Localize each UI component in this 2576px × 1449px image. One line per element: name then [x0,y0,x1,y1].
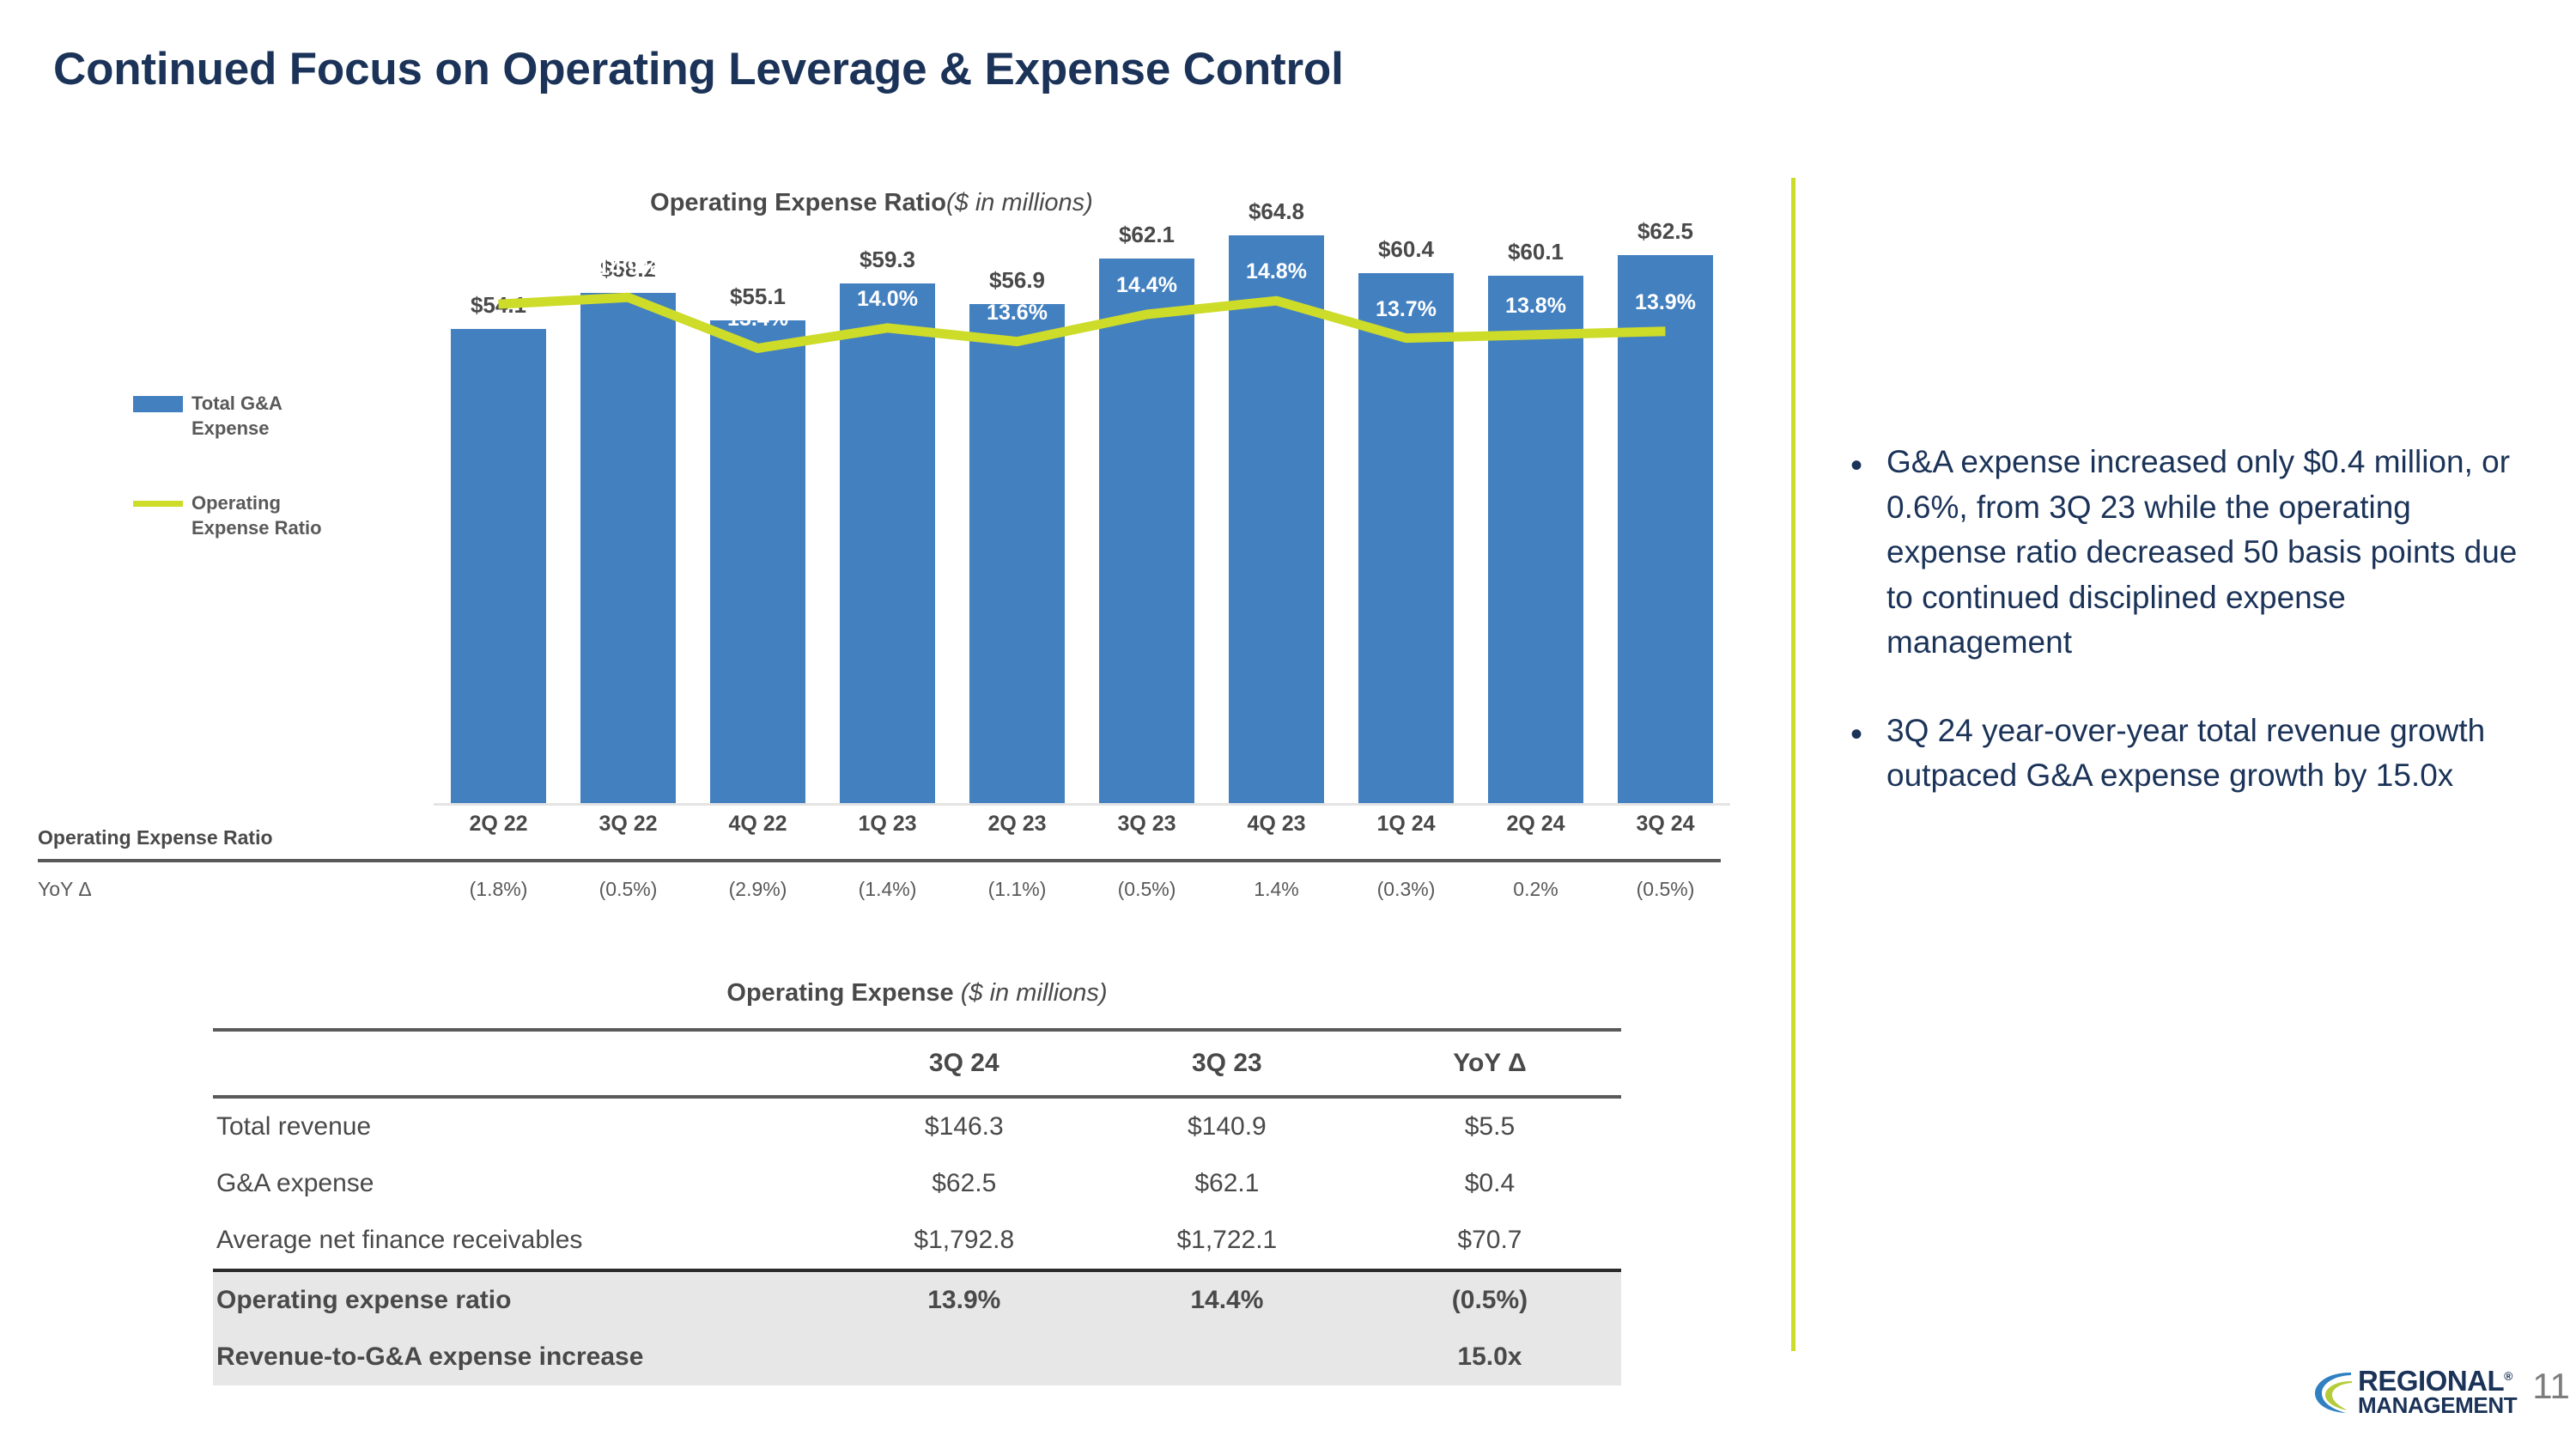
yoy-delta-cell: 0.2% [1471,878,1601,901]
bullet-item: •3Q 24 year-over-year total revenue grow… [1850,709,2529,799]
table-body: Total revenue$146.3$140.9$5.5G&A expense… [213,1097,1621,1385]
yoy-delta-cell: (0.5%) [563,878,693,901]
bar [580,293,676,803]
bar-value-label: $62.1 [1082,222,1212,248]
table-cell-value: $146.3 [833,1097,1096,1155]
x-axis-tick-label: 4Q 22 [693,812,823,837]
table-cell-value: $0.4 [1358,1155,1621,1212]
bullet-text: 3Q 24 year-over-year total revenue growt… [1886,709,2529,799]
ratio-value-label: 13.9% [1601,290,1730,315]
logo-line-1: REGIONAL® [2358,1367,2517,1395]
table-title-main: Operating Expense [726,979,953,1007]
table-cell-value: $70.7 [1358,1212,1621,1270]
yoy-delta-cell: (0.3%) [1341,878,1471,901]
ratio-value-label: 14.8% [1212,259,1341,284]
yoy-delta-cell: (0.5%) [1601,878,1730,901]
bar-value-label: $59.3 [823,247,952,273]
column-header-label [213,1030,833,1097]
ratio-value-label: 14.9% [563,256,693,281]
bar-column: $58.214.9% [563,172,693,803]
ratio-value-label: 13.7% [1341,297,1471,322]
x-axis-tick-label: 3Q 23 [1082,812,1212,837]
column-header-yoy: YoY Δ [1358,1030,1621,1097]
vertical-divider [1791,178,1795,1351]
x-axis-tick-label: 2Q 22 [434,812,563,837]
bar [969,304,1065,803]
x-axis-tick-label: 1Q 23 [823,812,952,837]
operating-expense-ratio-divider [38,859,1721,862]
column-header-3q23: 3Q 23 [1096,1030,1358,1097]
table-row: Operating expense ratio13.9%14.4%(0.5%) [213,1270,1621,1329]
table-cell-label: Total revenue [213,1097,833,1155]
logo-line-2: MANAGEMENT [2358,1395,2517,1416]
x-axis-tick-label: 1Q 24 [1341,812,1471,837]
chart-legend: Total G&A Expense Operating Expense Rati… [133,391,416,590]
legend-item-label: Operating Expense Ratio [191,490,346,540]
bar-column: $54.114.7% [434,172,563,803]
legend-item-operating-expense-ratio: Operating Expense Ratio [133,490,416,540]
bar [1099,259,1194,803]
x-axis-tick-label: 3Q 22 [563,812,693,837]
bar [840,283,935,803]
ratio-value-label: 14.4% [1082,273,1212,298]
column-header-3q24: 3Q 24 [833,1030,1096,1097]
table-header-row: 3Q 24 3Q 23 YoY Δ [213,1030,1621,1097]
ratio-value-label: 13.4% [693,307,823,332]
bar-column: $60.113.8% [1471,172,1601,803]
bar-column: $62.513.9% [1601,172,1730,803]
bar [1358,273,1454,803]
chart-bars-container: $54.114.7%$58.214.9%$55.113.4%$59.314.0%… [434,172,1730,803]
registered-trademark-icon: ® [2504,1369,2512,1383]
footer: REGIONAL® MANAGEMENT 11 [2312,1367,2570,1416]
bar-column: $55.113.4% [693,172,823,803]
operating-expense-ratio-chart: Operating Expense Ratio($ in millions) T… [0,172,1769,859]
commentary-bullet-list: •G&A expense increased only $0.4 million… [1850,440,2529,842]
yoy-delta-cell: (1.1%) [952,878,1082,901]
yoy-delta-cell: (2.9%) [693,878,823,901]
bar [710,320,805,803]
x-axis-tick-label: 2Q 23 [952,812,1082,837]
bar-value-label: $62.5 [1601,218,1730,245]
legend-item-label: Total G&A Expense [191,391,346,441]
table-cell-label: Revenue-to-G&A expense increase [213,1329,833,1385]
table-cell-value: 14.4% [1096,1270,1358,1329]
yoy-delta-cell: (1.8%) [434,878,563,901]
table-cell-value [833,1329,1096,1385]
bullet-dot-icon: • [1850,717,1862,752]
bar-column: $60.413.7% [1341,172,1471,803]
operating-expense-ratio-row-label: Operating Expense Ratio [38,826,273,849]
table-header: 3Q 24 3Q 23 YoY Δ [213,1030,1621,1097]
bullet-dot-icon: • [1850,448,1862,483]
table-cell-value [1096,1329,1358,1385]
bar-value-label: $60.4 [1341,236,1471,263]
legend-line-swatch-icon [133,501,183,507]
table-row: G&A expense$62.5$62.1$0.4 [213,1155,1621,1212]
page-title: Continued Focus on Operating Leverage & … [53,43,1344,95]
x-axis-tick-label: 4Q 23 [1212,812,1341,837]
table-cell-value: $140.9 [1096,1097,1358,1155]
regional-management-swoosh-icon [2312,1367,2356,1416]
bar-value-label: $64.8 [1212,198,1341,225]
bar-column: $56.913.6% [952,172,1082,803]
x-axis-line [434,803,1730,806]
table-cell-value: 15.0x [1358,1329,1621,1385]
table-cell-label: Operating expense ratio [213,1270,833,1329]
page-number: 11 [2532,1366,2570,1407]
bar [1488,276,1583,803]
bar-column: $62.114.4% [1082,172,1212,803]
chart-plot-area: $54.114.7%$58.214.9%$55.113.4%$59.314.0%… [434,172,1730,979]
ratio-value-label: 14.7% [434,263,563,288]
table-cell-value: $1,792.8 [833,1212,1096,1270]
table-title-subtitle: ($ in millions) [961,979,1108,1007]
yoy-delta-cell: 1.4% [1212,878,1341,901]
table-cell-value: 13.9% [833,1270,1096,1329]
bar [451,329,546,803]
table-row: Total revenue$146.3$140.9$5.5 [213,1097,1621,1155]
bar-column: $64.814.8% [1212,172,1341,803]
yoy-delta-values-row: (1.8%)(0.5%)(2.9%)(1.4%)(1.1%)(0.5%)1.4%… [434,878,1730,912]
table-cell-value: $62.5 [833,1155,1096,1212]
bullet-item: •G&A expense increased only $0.4 million… [1850,440,2529,666]
bar-value-label: $56.9 [952,267,1082,294]
table-row: Average net finance receivables$1,792.8$… [213,1212,1621,1270]
x-axis-tick-label: 2Q 24 [1471,812,1601,837]
bar-value-label: $60.1 [1471,239,1601,265]
bar-value-label: $55.1 [693,283,823,310]
logo-wordmark: REGIONAL® MANAGEMENT [2358,1367,2517,1416]
yoy-delta-cell: (0.5%) [1082,878,1212,901]
table-cell-value: (0.5%) [1358,1270,1621,1329]
table-row: Revenue-to-G&A expense increase15.0x [213,1329,1621,1385]
operating-expense-table-block: Operating Expense ($ in millions) 3Q 24 … [213,979,1621,1385]
bar [1229,235,1324,804]
ratio-value-label: 14.0% [823,287,952,312]
yoy-delta-cell: (1.4%) [823,878,952,901]
ratio-value-label: 13.8% [1471,294,1601,319]
yoy-delta-row-label: YoY Δ [38,878,92,901]
bullet-text: G&A expense increased only $0.4 million,… [1886,440,2529,666]
table-cell-value: $62.1 [1096,1155,1358,1212]
bar-column: $59.314.0% [823,172,952,803]
operating-expense-table: 3Q 24 3Q 23 YoY Δ Total revenue$146.3$14… [213,1028,1621,1385]
bar [1618,255,1713,803]
table-cell-value: $1,722.1 [1096,1212,1358,1270]
table-cell-label: G&A expense [213,1155,833,1212]
bar-value-label: $54.1 [434,292,563,319]
legend-bar-swatch-icon [133,396,183,412]
legend-item-total-ga-expense: Total G&A Expense [133,391,416,441]
x-axis-tick-label: 3Q 24 [1601,812,1730,837]
table-title: Operating Expense ($ in millions) [213,979,1621,1008]
ratio-value-label: 13.6% [952,301,1082,326]
table-cell-value: $5.5 [1358,1097,1621,1155]
table-cell-label: Average net finance receivables [213,1212,833,1270]
